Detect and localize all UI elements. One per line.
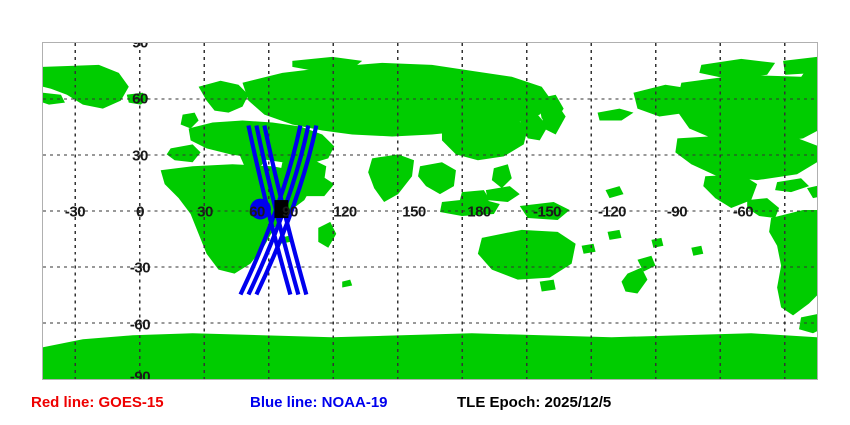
- scandinavia: [199, 81, 249, 113]
- x-tick-60: 60: [249, 205, 265, 220]
- x-tick--60: -60: [733, 205, 753, 220]
- china-east: [442, 113, 528, 161]
- x-tick--30: -30: [65, 205, 85, 220]
- baffin-bits: [43, 93, 65, 105]
- x-tick-150: 150: [402, 205, 426, 220]
- x-tick--120: -120: [598, 205, 626, 220]
- aleutians: [598, 109, 634, 121]
- satellite-ground-track-map: -30 0 30 60 90 120 150 180 -150 -120 -90…: [0, 0, 850, 425]
- x-tick-180: 180: [467, 205, 491, 220]
- se-asia: [418, 162, 456, 194]
- y-tick--60: -60: [130, 318, 150, 333]
- y-tick-60: 60: [132, 92, 148, 107]
- canada-main: [675, 75, 817, 145]
- britain: [181, 113, 199, 129]
- y-tick-0: 0: [136, 205, 144, 220]
- world-map-svg: [43, 43, 817, 379]
- x-tick-90: 90: [282, 205, 298, 220]
- cuba: [775, 178, 809, 192]
- legend: Red line: GOES-15 Blue line: NOAA-19 TLE…: [0, 392, 850, 420]
- x-tick--90: -90: [667, 205, 687, 220]
- pacific-island-2: [582, 244, 596, 254]
- y-tick-30: 30: [132, 149, 148, 164]
- indonesia-2: [486, 186, 520, 202]
- pacific-island-4: [691, 246, 703, 256]
- south-america: [769, 210, 817, 315]
- iberia: [167, 144, 201, 162]
- y-tick--30: -30: [130, 261, 150, 276]
- antarctica: [43, 333, 817, 379]
- x-tick-30: 30: [197, 205, 213, 220]
- y-tick--90: -90: [130, 370, 150, 381]
- australia: [478, 230, 576, 280]
- antarctic-peninsula: [799, 313, 817, 333]
- legend-tle-epoch: TLE Epoch: 2025/12/5: [457, 392, 611, 414]
- map-plot-area: -30 0 30 60 90 120 150 180 -150 -120 -90…: [42, 42, 818, 380]
- pacific-island-3: [651, 238, 663, 248]
- india: [368, 154, 414, 202]
- x-tick-120: 120: [333, 205, 357, 220]
- arctic-islands: [292, 57, 362, 71]
- y-tick-90: 90: [132, 42, 148, 51]
- x-tick--150: -150: [533, 205, 561, 220]
- small-island-indian: [342, 280, 352, 288]
- usa: [675, 134, 817, 180]
- tasmania: [540, 280, 556, 292]
- hawaii: [606, 186, 624, 198]
- legend-red-line: Red line: GOES-15: [31, 392, 164, 414]
- pacific-island-1: [608, 230, 622, 240]
- philippines: [492, 164, 512, 188]
- landmass-layer: [43, 57, 817, 379]
- legend-blue-line: Blue line: NOAA-19: [250, 392, 388, 414]
